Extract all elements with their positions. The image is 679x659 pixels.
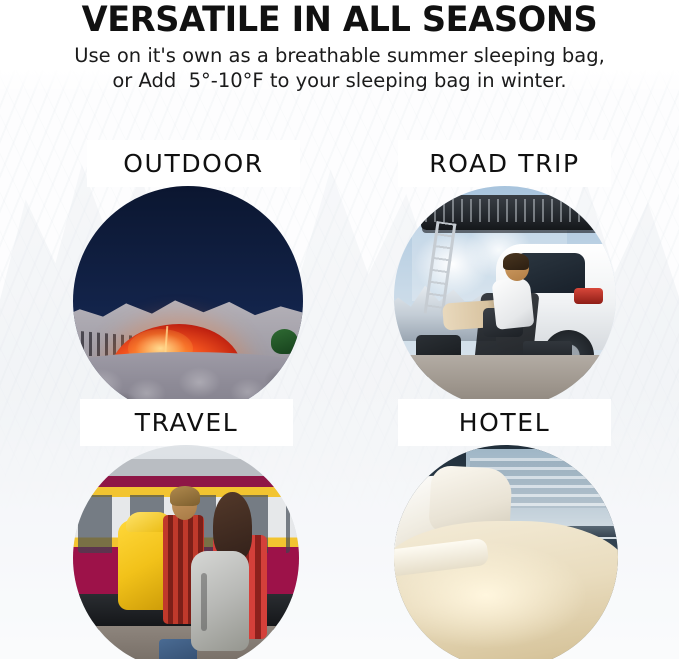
traveler-one-hair (170, 486, 199, 506)
photo-travel (73, 445, 299, 659)
car-taillight (574, 288, 603, 304)
traveler-two-hair (213, 492, 251, 560)
use-case-label-hotel: HOTEL (459, 408, 550, 437)
photo-outdoor (73, 186, 303, 416)
use-case-grid: OUTDOOR ROAD TRIP (0, 0, 679, 659)
photo-outdoor-scene (73, 186, 303, 416)
subtitle-line-2: or Add 5°-10°F to your sleeping bag in w… (0, 68, 679, 93)
duvet-folds (394, 535, 618, 659)
header: VERSATILE IN ALL SEASONS Use on it's own… (0, 0, 679, 93)
page-title: VERSATILE IN ALL SEASONS (14, 0, 666, 38)
photo-road-trip-scene (394, 186, 616, 408)
roof-rack-slats (425, 199, 607, 221)
photo-hotel (394, 445, 618, 659)
label-box-travel: TRAVEL (80, 399, 293, 446)
marketing-infographic: VERSATILE IN ALL SEASONS Use on it's own… (0, 0, 679, 659)
photo-road-trip (394, 186, 616, 408)
person-torso (491, 277, 534, 330)
grey-backpack (191, 551, 250, 650)
use-case-label-outdoor: OUTDOOR (123, 149, 263, 178)
photo-hotel-scene (394, 445, 618, 659)
person-hair (503, 253, 530, 271)
use-case-label-travel: TRAVEL (135, 408, 239, 437)
subtitle-line-1: Use on it's own as a breathable summer s… (0, 38, 679, 68)
photo-travel-scene (73, 445, 299, 659)
label-box-hotel: HOTEL (398, 399, 611, 446)
label-box-outdoor: OUTDOOR (87, 140, 300, 187)
use-case-label-road-trip: ROAD TRIP (429, 149, 579, 178)
foliage (271, 329, 299, 354)
label-box-road-trip: ROAD TRIP (398, 140, 611, 187)
